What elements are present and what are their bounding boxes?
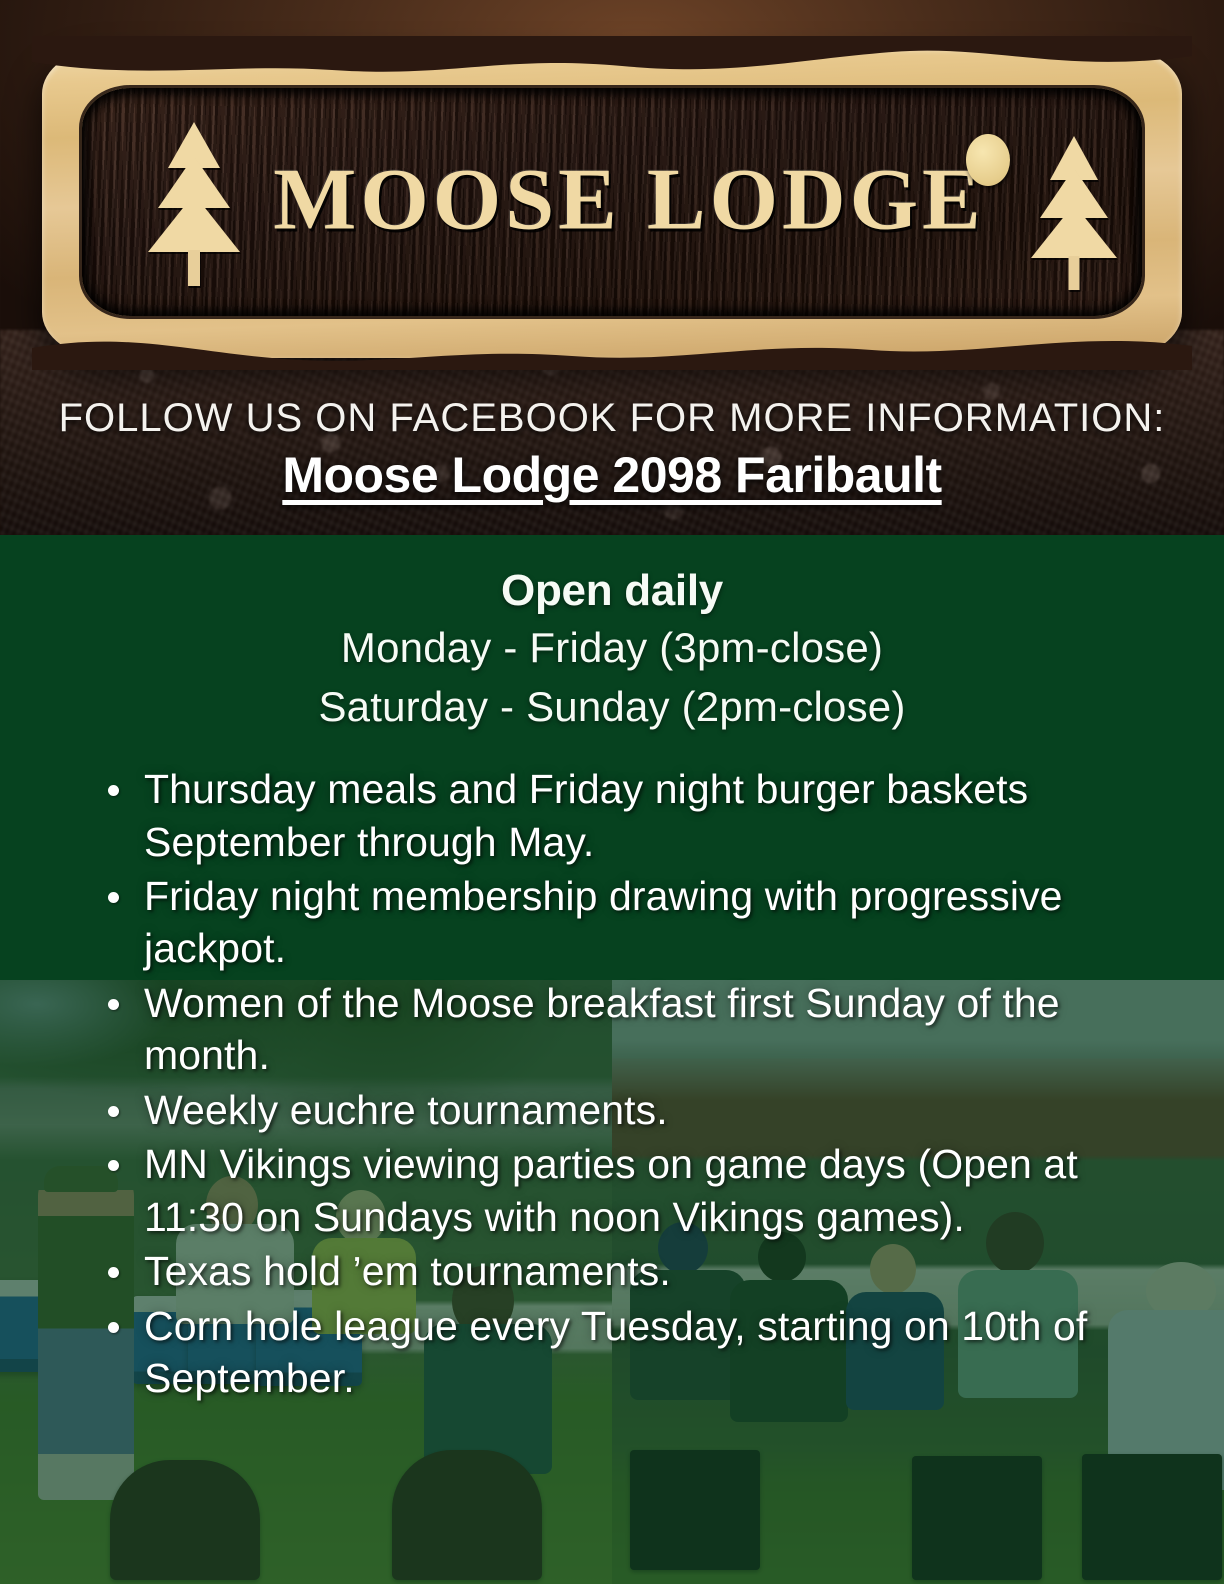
sign-bottom-live-edge [32,324,1192,370]
folding-chair-shape [630,1450,760,1570]
hours-block: Open daily Monday - Friday (3pm-close) S… [0,535,1224,737]
hours-line-weekend: Saturday - Sunday (2pm-close) [0,677,1224,737]
sign-engraved-panel: MOOSE LODGE [82,88,1142,316]
hours-line-weekday: Monday - Friday (3pm-close) [0,618,1224,678]
poster-root: MOOSE LODGE FOLLOW US ON FACEBOOK FOR MO… [0,0,1224,1584]
folding-chair-shape [392,1450,542,1580]
list-item: Texas hold ’em tournaments. [108,1245,1154,1297]
info-content: Open daily Monday - Friday (3pm-close) S… [0,535,1224,1407]
folding-chair-shape [1082,1454,1222,1580]
list-item: Friday night membership drawing with pro… [108,870,1154,975]
carved-wood-sign: MOOSE LODGE [42,48,1182,358]
facebook-callout: FOLLOW US ON FACEBOOK FOR MORE INFORMATI… [0,398,1224,502]
folding-chair-shape [110,1460,260,1580]
moon-icon [966,134,1010,186]
list-item: Thursday meals and Friday night burger b… [108,763,1154,868]
list-item: Weekly euchre tournaments. [108,1084,1154,1136]
features-list: Thursday meals and Friday night burger b… [0,763,1224,1405]
list-item: Corn hole league every Tuesday, starting… [108,1300,1154,1405]
green-info-panel: Open daily Monday - Friday (3pm-close) S… [0,535,1224,1584]
folding-chair-shape [912,1456,1042,1580]
list-item: Women of the Moose breakfast first Sunda… [108,977,1154,1082]
facebook-page-link[interactable]: Moose Lodge 2098 Faribault [0,449,1224,502]
hero-photo-section: MOOSE LODGE FOLLOW US ON FACEBOOK FOR MO… [0,0,1224,535]
follow-instruction-text: FOLLOW US ON FACEBOOK FOR MORE INFORMATI… [0,398,1224,438]
sign-top-live-edge [32,36,1192,82]
hours-heading: Open daily [0,565,1224,618]
list-item: MN Vikings viewing parties on game days … [108,1138,1154,1243]
